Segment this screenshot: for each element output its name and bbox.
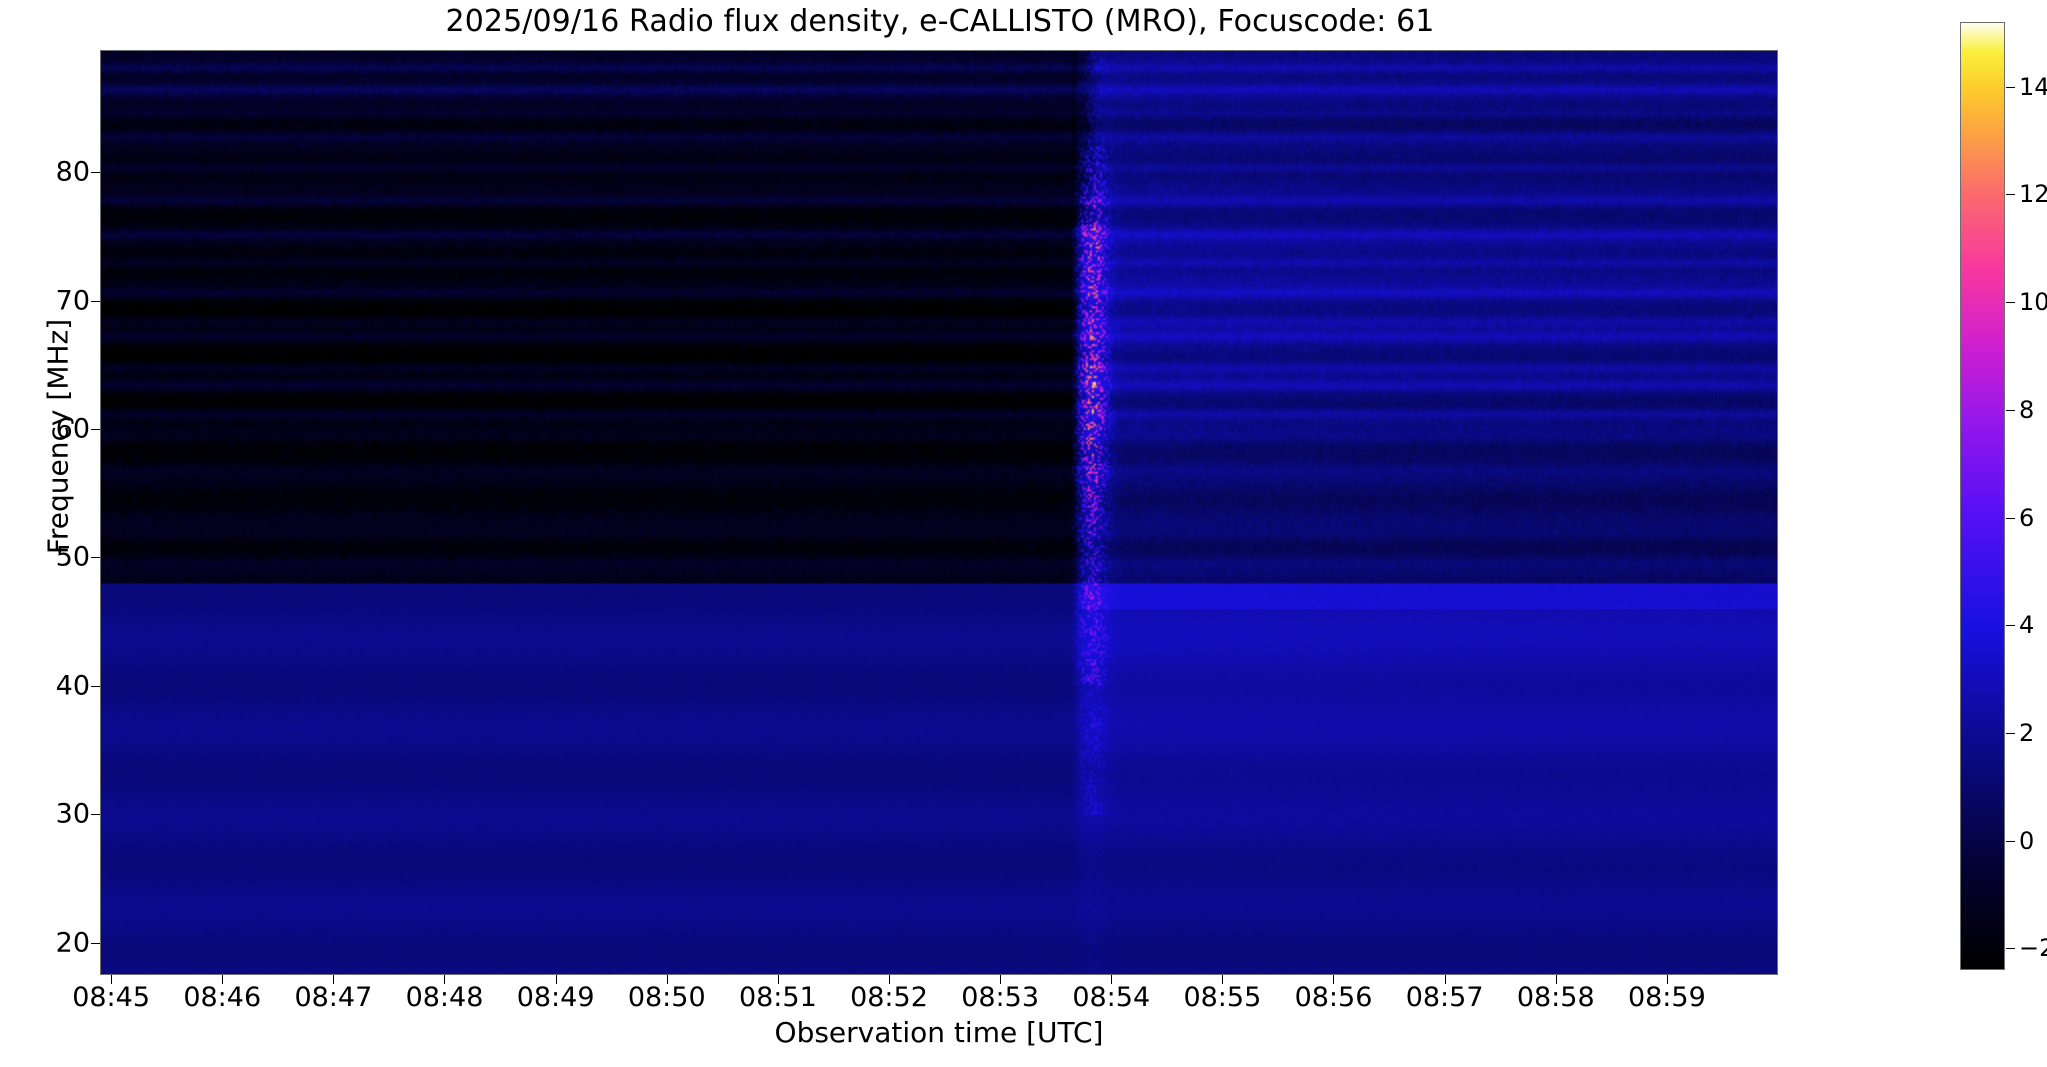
colorbar-tick-label: 6 xyxy=(2019,504,2034,532)
x-axis-tick-label: 08:50 xyxy=(628,982,706,1013)
colorbar-tick xyxy=(2006,518,2015,519)
colorbar-tick-label: −2 xyxy=(2019,934,2047,962)
x-axis-title: Observation time [UTC] xyxy=(100,1016,1778,1049)
x-axis-tick-label: 08:53 xyxy=(961,982,1039,1013)
colorbar-tick xyxy=(2006,302,2015,303)
x-axis-tick-label: 08:52 xyxy=(850,982,928,1013)
x-axis-tick-label: 08:51 xyxy=(739,982,817,1013)
x-axis-tick-label: 08:45 xyxy=(72,982,150,1013)
y-axis-tick xyxy=(91,943,100,944)
x-axis-tick-label: 08:59 xyxy=(1628,982,1706,1013)
y-axis-tick-label: 30 xyxy=(56,799,90,830)
x-axis-tick-label: 08:49 xyxy=(517,982,595,1013)
colorbar-tick xyxy=(2006,625,2015,626)
y-axis-tick-label: 40 xyxy=(56,670,90,701)
colorbar-tick xyxy=(2006,87,2015,88)
page-title: 2025/09/16 Radio flux density, e-CALLIST… xyxy=(0,4,1880,39)
colorbar xyxy=(1960,22,2005,970)
y-axis-tick xyxy=(91,814,100,815)
colorbar-tick xyxy=(2006,733,2015,734)
y-axis-tick-label: 20 xyxy=(56,927,90,958)
y-axis-tick-label: 80 xyxy=(56,157,90,188)
x-axis-tick-label: 08:46 xyxy=(183,982,261,1013)
y-axis-tick xyxy=(91,429,100,430)
colorbar-tick-label: 8 xyxy=(2019,396,2034,424)
y-axis-tick xyxy=(91,172,100,173)
colorbar-tick xyxy=(2006,841,2015,842)
colorbar-tick-label: 14 xyxy=(2019,73,2047,101)
spectrogram-plot xyxy=(100,50,1778,975)
colorbar-tick-label: 10 xyxy=(2019,288,2047,316)
y-axis-tick-label: 60 xyxy=(56,413,90,444)
colorbar-tick-label: 2 xyxy=(2019,719,2034,747)
y-axis-tick xyxy=(91,686,100,687)
colorbar-tick xyxy=(2006,194,2015,195)
colorbar-tick-label: 0 xyxy=(2019,827,2034,855)
x-axis-tick-label: 08:56 xyxy=(1295,982,1373,1013)
y-axis-tick-label: 50 xyxy=(56,542,90,573)
spectrogram-canvas xyxy=(101,51,1777,974)
colorbar-gradient xyxy=(1961,23,2004,969)
x-axis-tick-label: 08:57 xyxy=(1406,982,1484,1013)
colorbar-tick xyxy=(2006,948,2015,949)
y-axis-tick xyxy=(91,557,100,558)
colorbar-tick-label: 4 xyxy=(2019,611,2034,639)
colorbar-tick-label: 12 xyxy=(2019,180,2047,208)
x-axis-tick-label: 08:58 xyxy=(1517,982,1595,1013)
x-axis-tick-label: 08:54 xyxy=(1072,982,1150,1013)
x-axis-tick-label: 08:48 xyxy=(406,982,484,1013)
x-axis-tick-label: 08:47 xyxy=(294,982,372,1013)
y-axis-tick-label: 70 xyxy=(56,285,90,316)
colorbar-tick xyxy=(2006,410,2015,411)
x-axis-tick-label: 08:55 xyxy=(1183,982,1261,1013)
y-axis-tick xyxy=(91,301,100,302)
